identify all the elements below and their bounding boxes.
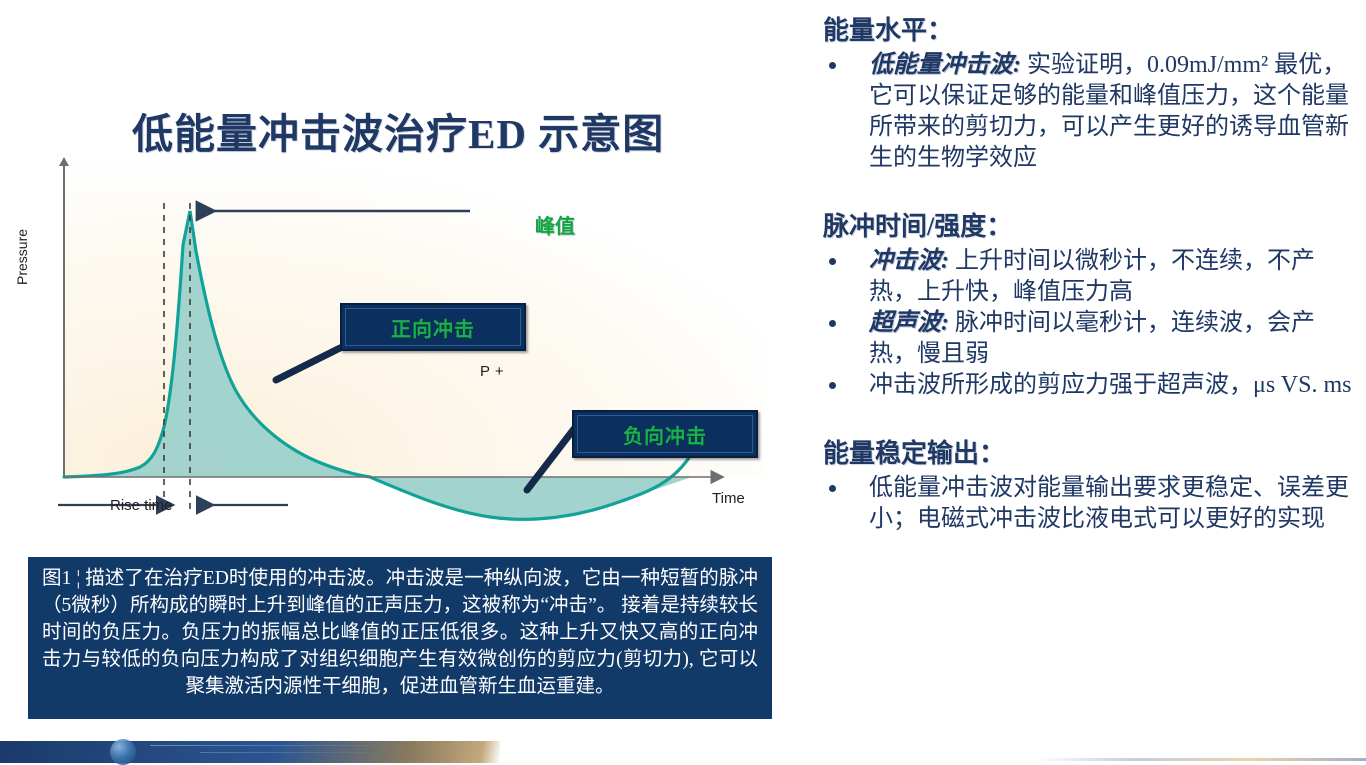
wave-fill-group: [64, 211, 692, 519]
orb-decoration: [110, 739, 136, 765]
list-item: 冲击波: 上升时间以微秒计，不连续，不产热，上升快，峰值压力高: [823, 246, 1356, 308]
section-bullet-list: 低能量冲击波对能量输出要求更稳定、误差更小；电磁式冲击波比液电式可以更好的实现: [823, 473, 1356, 535]
rise-time-label: Rise time: [110, 497, 173, 514]
positive-callout-leader: [276, 348, 340, 380]
section-bullet-list: 冲击波: 上升时间以微秒计，不连续，不产热，上升快，峰值压力高 超声波: 脉冲时…: [823, 246, 1356, 401]
bullet-text: 冲击波所形成的剪应力强于超声波，μs VS. ms: [869, 372, 1351, 398]
bullet-lead: 低能量冲击波:: [869, 52, 1021, 78]
positive-callout-label: 正向冲击: [391, 313, 475, 342]
section-spacer: [823, 188, 1356, 210]
bullet-lead: 超声波:: [869, 310, 949, 336]
figure-caption: 图1 ¦ 描述了在治疗ED时使用的冲击波。冲击波是一种纵向波，它由一种短暂的脉冲…: [28, 557, 772, 719]
streak-decoration: [150, 745, 410, 746]
p-plus-label: P +: [480, 363, 504, 380]
negative-callout-label: 负向冲击: [623, 420, 707, 449]
notes-section: 能量水平： 低能量冲击波: 实验证明，0.09mJ/mm² 最优，它可以保证足够…: [823, 14, 1356, 174]
section-heading: 能量水平：: [823, 14, 1356, 48]
negative-shock-callout[interactable]: 负向冲击: [572, 410, 758, 458]
section-heading: 脉冲时间/强度：: [823, 210, 1356, 244]
y-axis-label: Pressure: [14, 229, 30, 285]
bullet-dot-icon: [829, 258, 836, 265]
bullet-dot-icon: [829, 62, 836, 69]
list-item: 低能量冲击波对能量输出要求更稳定、误差更小；电磁式冲击波比液电式可以更好的实现: [823, 473, 1356, 535]
streak-decoration-2: [200, 752, 400, 753]
bullet-text: 低能量冲击波对能量输出要求更稳定、误差更小；电磁式冲击波比液电式可以更好的实现: [869, 475, 1349, 532]
list-item: 超声波: 脉冲时间以毫秒计，连续波，会产热，慢且弱: [823, 308, 1356, 370]
bullet-lead: 冲击波:: [869, 248, 949, 274]
section-bullet-list: 低能量冲击波: 实验证明，0.09mJ/mm² 最优，它可以保证足够的能量和峰值…: [823, 50, 1356, 174]
bullet-dot-icon: [829, 382, 836, 389]
notes-section: 脉冲时间/强度： 冲击波: 上升时间以微秒计，不连续，不产热，上升快，峰值压力高…: [823, 210, 1356, 401]
section-spacer: [823, 415, 1356, 437]
decorative-bottom-band: [0, 741, 500, 763]
list-item: 低能量冲击波: 实验证明，0.09mJ/mm² 最优，它可以保证足够的能量和峰值…: [823, 50, 1356, 174]
notes-panel: 能量水平： 低能量冲击波: 实验证明，0.09mJ/mm² 最优，它可以保证足够…: [805, 0, 1366, 763]
section-heading: 能量稳定输出：: [823, 437, 1356, 471]
peak-value-label: 峰值: [535, 210, 575, 239]
positive-shock-callout[interactable]: 正向冲击: [340, 303, 526, 351]
figure-title: 低能量冲击波治疗ED 示意图: [132, 100, 652, 160]
bullet-dot-icon: [829, 485, 836, 492]
notes-section: 能量稳定输出： 低能量冲击波对能量输出要求更稳定、误差更小；电磁式冲击波比液电式…: [823, 437, 1356, 535]
figure-panel: 低能量冲击波治疗ED 示意图 Pressure Time: [0, 0, 790, 763]
list-item: 冲击波所形成的剪应力强于超声波，μs VS. ms: [823, 370, 1356, 401]
slide-root: 低能量冲击波治疗ED 示意图 Pressure Time: [0, 0, 1366, 763]
bullet-dot-icon: [829, 320, 836, 327]
